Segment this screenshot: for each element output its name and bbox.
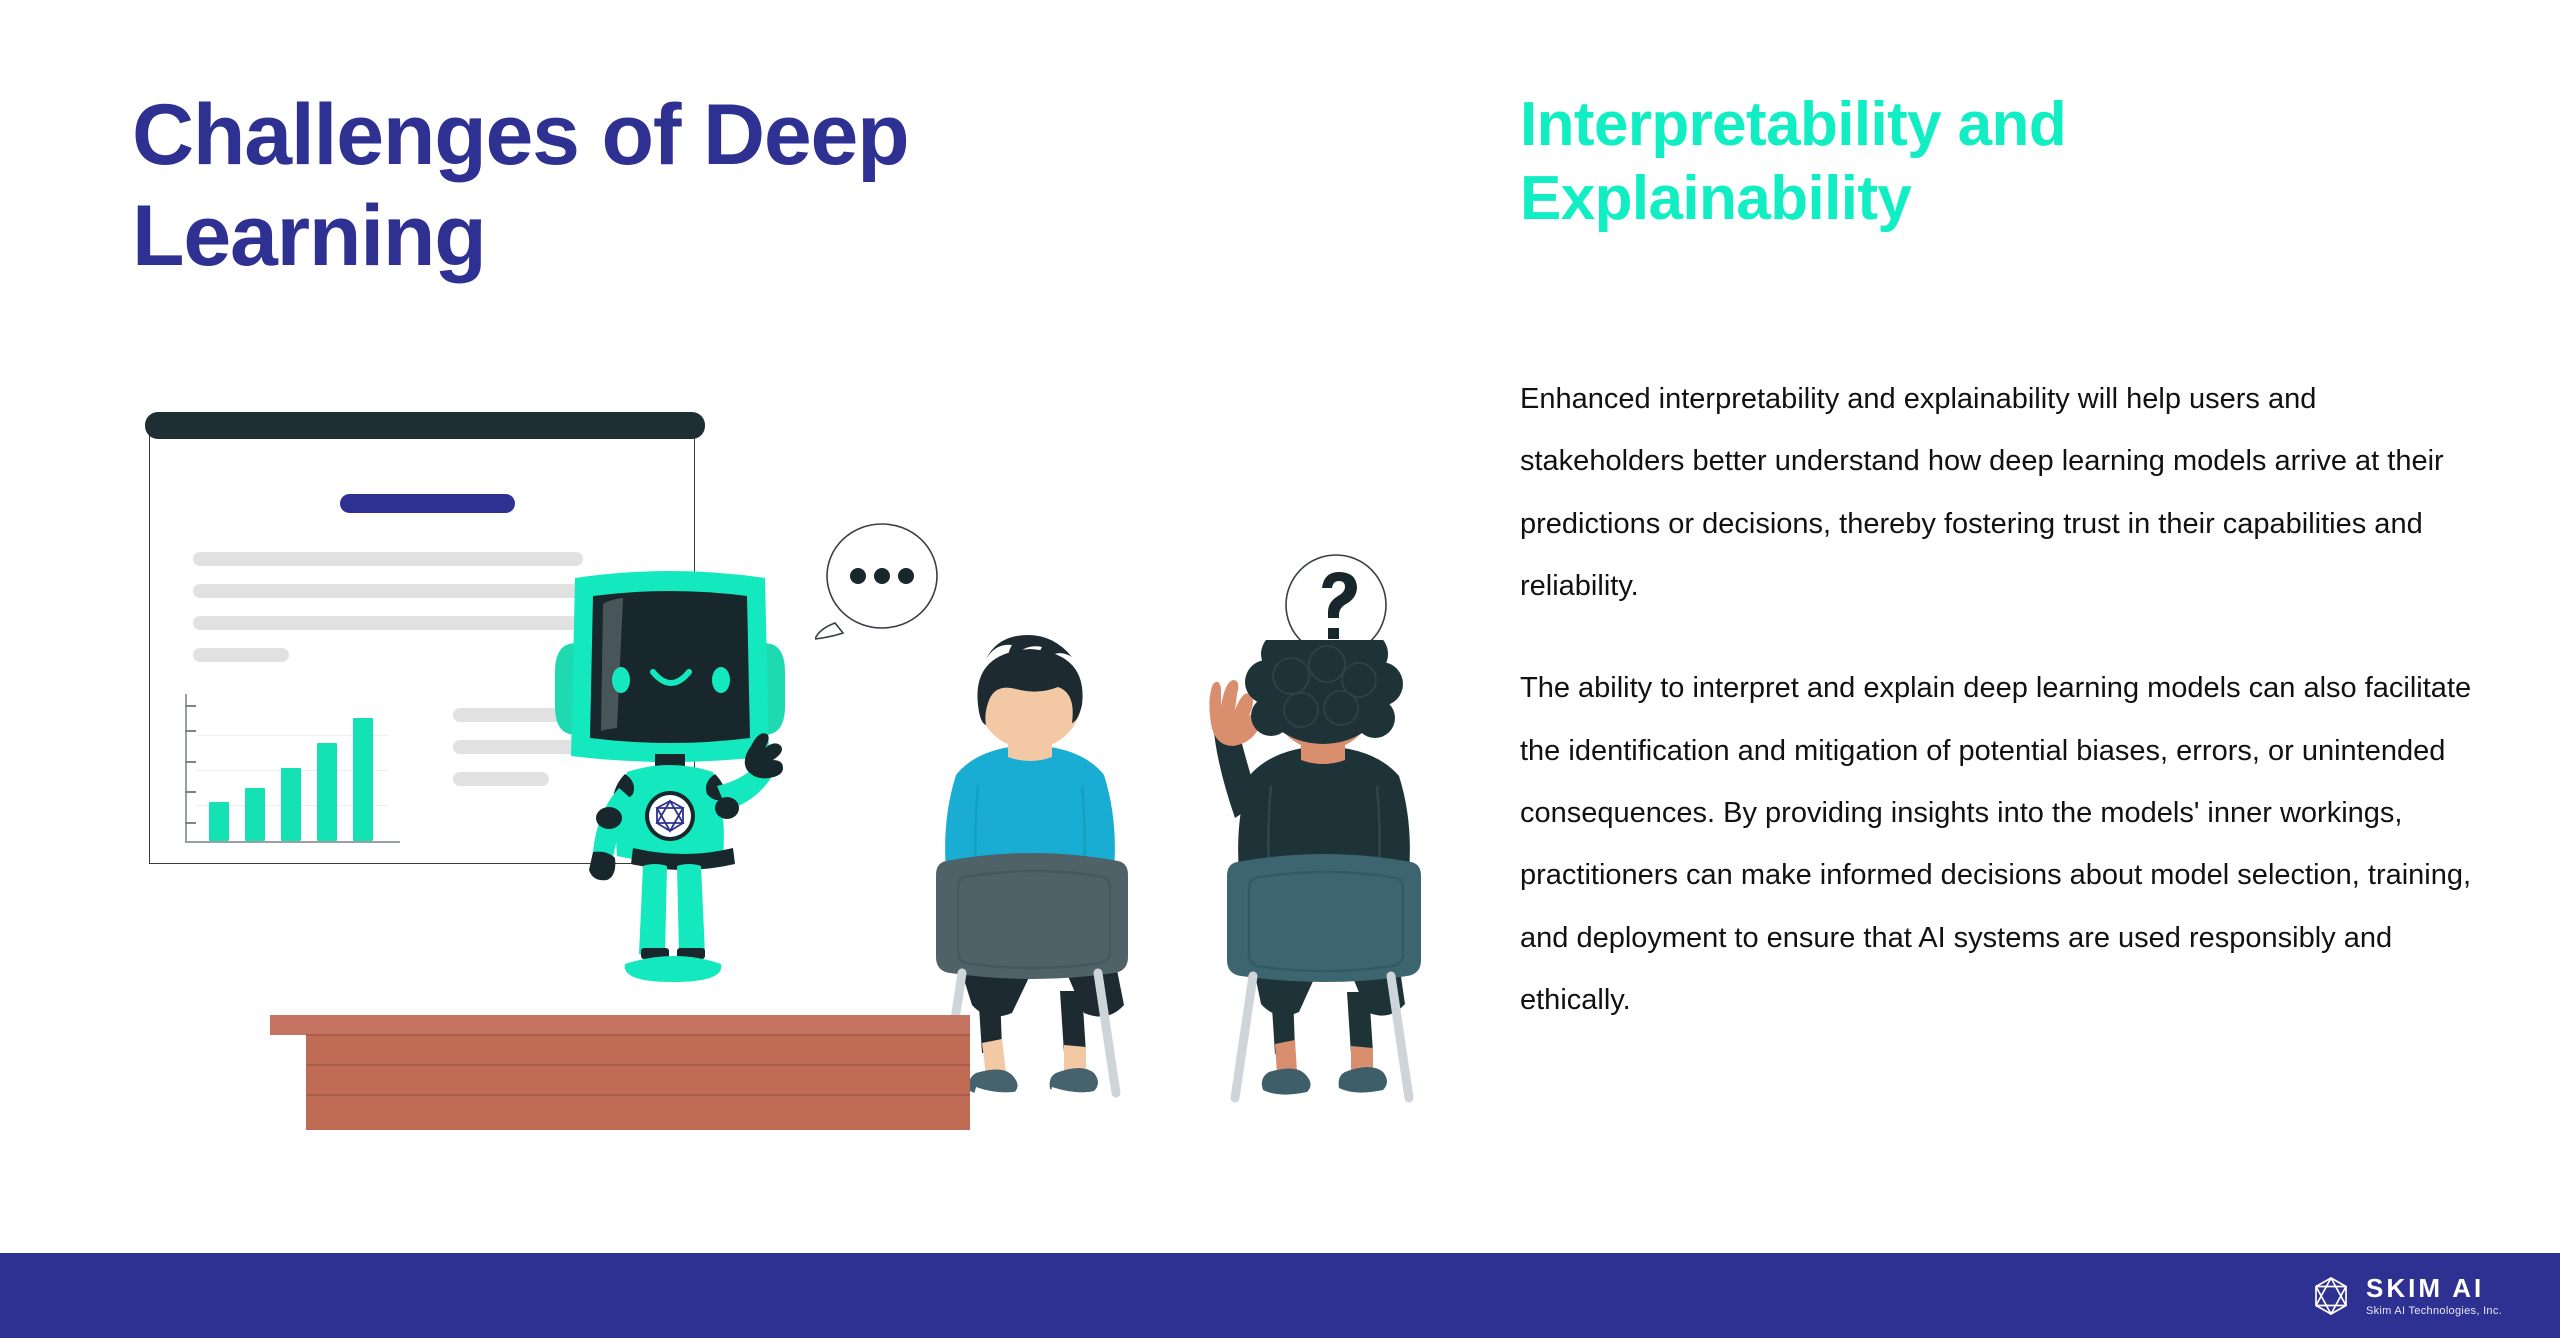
body-paragraph: The ability to interpret and explain dee… bbox=[1520, 657, 2475, 1031]
section-heading: Interpretability and Explainability bbox=[1520, 88, 2420, 237]
whiteboard-header-bar bbox=[145, 412, 705, 439]
chart-y-tick bbox=[185, 705, 196, 707]
text-placeholder-line bbox=[193, 616, 583, 630]
right-column: Interpretability and Explainability Enha… bbox=[1520, 0, 2500, 1253]
slide-canvas: Challenges of Deep Learning bbox=[0, 0, 2560, 1338]
logo-text-block: SKIM AI Skim AI Technologies, Inc. bbox=[2366, 1275, 2502, 1317]
body-paragraph: Enhanced interpretability and explainabi… bbox=[1520, 368, 2475, 617]
logo-wordmark: SKIM AI bbox=[2366, 1275, 2502, 1301]
chart-bar bbox=[209, 802, 229, 841]
whiteboard-bar-chart bbox=[185, 694, 400, 849]
footer-bar: SKIM AI Skim AI Technologies, Inc. bbox=[0, 1253, 2560, 1338]
bubble-dot bbox=[874, 568, 890, 584]
wooden-stage bbox=[270, 1015, 970, 1130]
hexagon-logo-icon bbox=[2310, 1275, 2352, 1317]
ellipsis-speech-bubble bbox=[815, 518, 945, 643]
chart-bar bbox=[245, 788, 265, 841]
whiteboard-title-placeholder bbox=[340, 494, 515, 513]
bubble-dot bbox=[898, 568, 914, 584]
brand-logo: SKIM AI Skim AI Technologies, Inc. bbox=[2310, 1275, 2502, 1317]
chart-y-tick bbox=[185, 791, 196, 793]
chart-bar bbox=[281, 768, 301, 841]
text-placeholder-line bbox=[193, 552, 583, 566]
page-title: Challenges of Deep Learning bbox=[132, 85, 1232, 286]
text-placeholder-line bbox=[193, 584, 583, 598]
text-placeholder-line bbox=[453, 772, 549, 786]
text-placeholder-line bbox=[193, 648, 289, 662]
presenter-robot bbox=[555, 560, 785, 1010]
chart-y-tick bbox=[185, 822, 196, 824]
section-body: Enhanced interpretability and explainabi… bbox=[1520, 368, 2475, 1031]
logo-tagline: Skim AI Technologies, Inc. bbox=[2366, 1306, 2502, 1317]
chart-y-axis bbox=[185, 694, 187, 842]
chart-x-axis bbox=[185, 841, 400, 843]
left-column: Challenges of Deep Learning bbox=[0, 0, 1460, 1253]
seated-person-raising-hand bbox=[1175, 640, 1465, 1135]
chart-bar bbox=[353, 718, 373, 841]
bubble-dot bbox=[850, 568, 866, 584]
chart-y-tick bbox=[185, 761, 196, 763]
chart-y-tick bbox=[185, 730, 196, 732]
chart-bar bbox=[317, 743, 337, 841]
illustration-classroom-robot bbox=[100, 390, 1460, 1240]
